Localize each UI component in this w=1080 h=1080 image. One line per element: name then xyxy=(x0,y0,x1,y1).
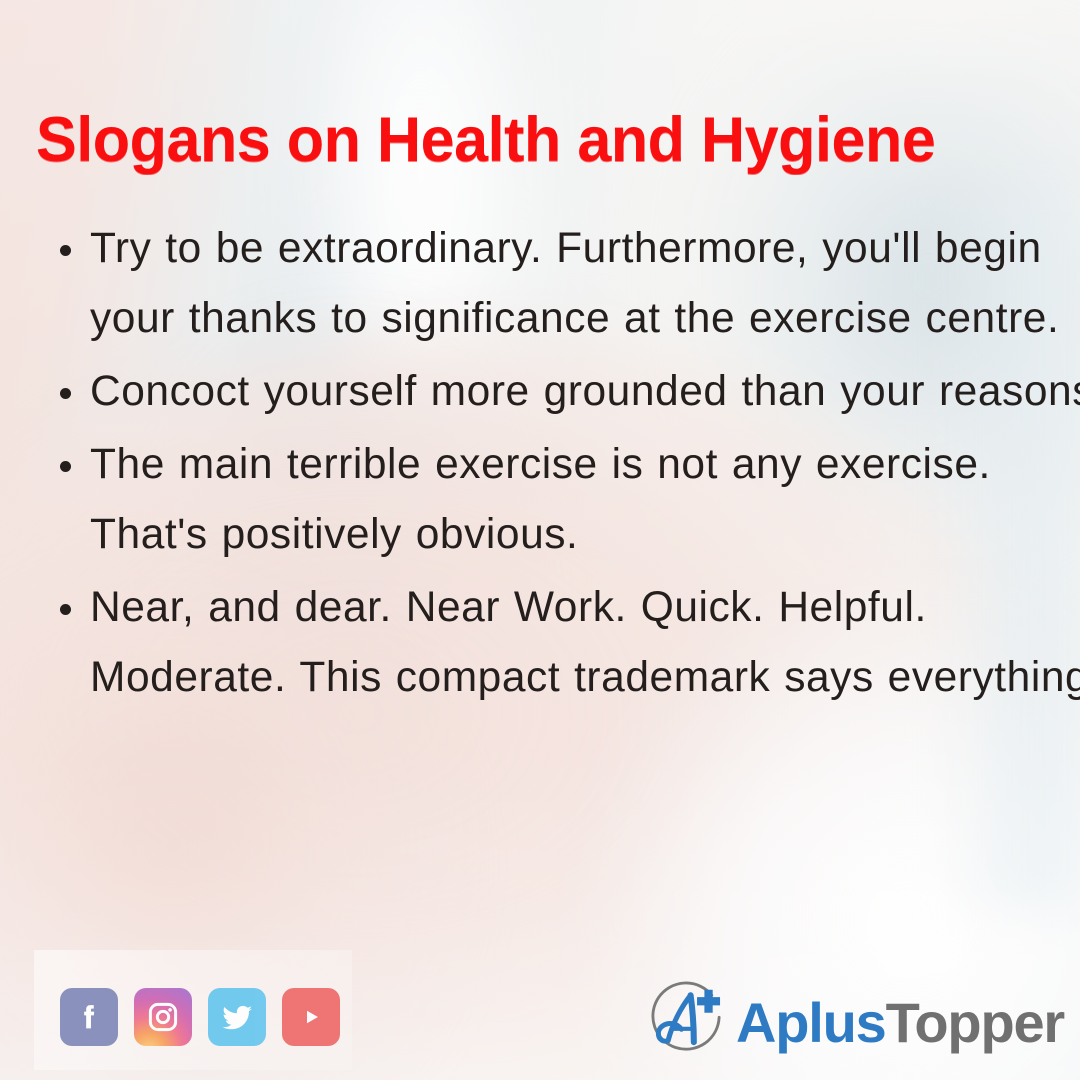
brand-logo[interactable]: AplusTopper xyxy=(640,975,1064,1067)
slogan-list-item: Concoct yourself more grounded than your… xyxy=(90,357,1080,427)
twitter-icon[interactable] xyxy=(208,988,266,1046)
slogan-list-item: Near, and dear. Near Work. Quick. Helpfu… xyxy=(90,573,1080,713)
slogan-list-item: The main terrible exercise is not any ex… xyxy=(90,430,1080,570)
poster-canvas: Slogans on Health and Hygiene Try to be … xyxy=(0,0,1080,1080)
social-links xyxy=(60,988,340,1046)
logo-word-topper: Topper xyxy=(886,991,1064,1054)
page-title: Slogans on Health and Hygiene xyxy=(36,108,1016,174)
facebook-icon[interactable] xyxy=(60,988,118,1046)
logo-wordmark: AplusTopper xyxy=(736,995,1064,1051)
poster-content: Slogans on Health and Hygiene Try to be … xyxy=(0,0,1080,1080)
logo-word-aplus: Aplus xyxy=(736,991,886,1054)
aplus-circle-logo-icon xyxy=(640,975,732,1067)
slogan-list-item: Try to be extraordinary. Furthermore, yo… xyxy=(90,214,1080,354)
instagram-icon[interactable] xyxy=(134,988,192,1046)
slogan-list: Try to be extraordinary. Furthermore, yo… xyxy=(42,214,1080,716)
youtube-icon[interactable] xyxy=(282,988,340,1046)
